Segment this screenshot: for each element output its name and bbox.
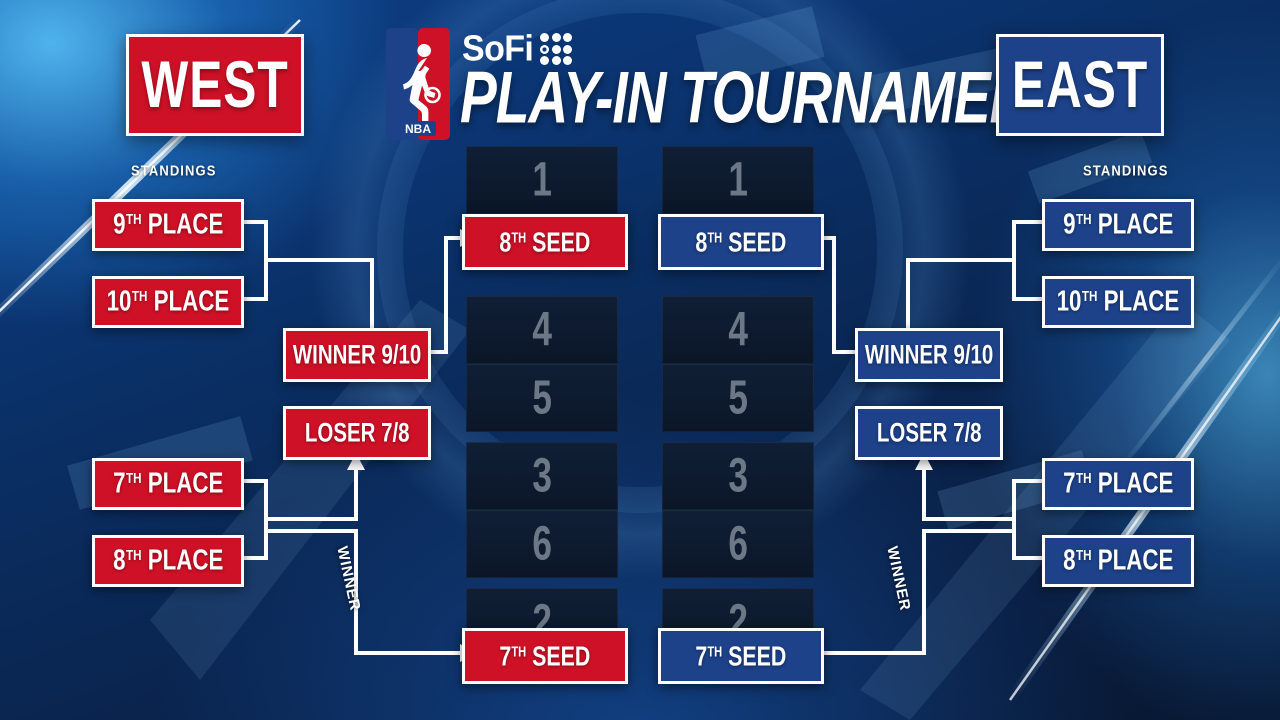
conference-label-east: EAST xyxy=(1012,52,1148,118)
east-7th-seed-label: 7TH SEED xyxy=(696,642,787,670)
play-in-bracket-graphic: NBA SoFi PLAY-IN TOURNAMENT WEST EAST ST… xyxy=(0,0,1280,720)
standings-label-east: STANDINGS xyxy=(1083,162,1169,179)
west-slot-seed-4: 4 xyxy=(466,296,618,364)
east-slot-seed-1: 1 xyxy=(662,146,814,214)
standings-label-west: STANDINGS xyxy=(131,162,217,179)
east-slot-seed-6: 6 xyxy=(662,510,814,578)
east-standing-8th-place[interactable]: 8TH PLACE xyxy=(1042,535,1194,587)
west-slot-seed-1: 1 xyxy=(466,146,618,214)
west-slot-seed-3: 3 xyxy=(466,442,618,510)
east-8th-seed-label: 8TH SEED xyxy=(696,228,787,256)
west-winner-9-10-label: WINNER 9/10 xyxy=(293,342,421,368)
east-winner-9-10-label: WINNER 9/10 xyxy=(865,342,993,368)
east-seed-ladder: 1 4 5 3 6 2 8TH SEED 7TH SEED xyxy=(662,146,814,676)
west-winner-9-10-box[interactable]: WINNER 9/10 xyxy=(283,328,431,382)
east-standing-10th-place-label: 10TH PLACE xyxy=(1057,288,1180,317)
east-loser-7-8-label: LOSER 7/8 xyxy=(877,420,982,446)
west-8th-seed-label: 8TH SEED xyxy=(500,228,591,256)
west-standing-8th-place-label: 8TH PLACE xyxy=(113,547,223,576)
west-8th-seed-box[interactable]: 8TH SEED xyxy=(462,214,628,270)
east-loser-7-8-box[interactable]: LOSER 7/8 xyxy=(855,406,1003,460)
east-7th-seed-box[interactable]: 7TH SEED xyxy=(658,628,824,684)
west-7th-seed-label: 7TH SEED xyxy=(500,642,591,670)
east-standing-7th-place[interactable]: 7TH PLACE xyxy=(1042,458,1194,510)
east-slot-seed-4: 4 xyxy=(662,296,814,364)
east-standing-9th-place-label: 9TH PLACE xyxy=(1063,211,1173,240)
east-winner-9-10-box[interactable]: WINNER 9/10 xyxy=(855,328,1003,382)
west-standing-7th-place-label: 7TH PLACE xyxy=(113,470,223,499)
west-standing-9th-place[interactable]: 9TH PLACE xyxy=(92,199,244,251)
svg-text:NBA: NBA xyxy=(405,122,431,136)
west-loser-7-8-label: LOSER 7/8 xyxy=(305,420,410,446)
east-standing-7th-place-label: 7TH PLACE xyxy=(1063,470,1173,499)
west-seed-ladder: 1 4 5 3 6 2 8TH SEED 7TH SEED xyxy=(466,146,618,676)
east-slot-seed-3: 3 xyxy=(662,442,814,510)
west-slot-seed-6: 6 xyxy=(466,510,618,578)
conference-label-west: WEST xyxy=(141,52,288,118)
conference-plate-east: EAST xyxy=(996,34,1164,136)
west-slot-seed-5: 5 xyxy=(466,364,618,432)
west-loser-7-8-box[interactable]: LOSER 7/8 xyxy=(283,406,431,460)
east-standing-9th-place[interactable]: 9TH PLACE xyxy=(1042,199,1194,251)
conference-plate-west: WEST xyxy=(126,34,304,136)
west-standing-9th-place-label: 9TH PLACE xyxy=(113,211,223,240)
west-standing-7th-place[interactable]: 7TH PLACE xyxy=(92,458,244,510)
title-block: NBA SoFi PLAY-IN TOURNAMENT xyxy=(386,24,896,140)
page-title: PLAY-IN TOURNAMENT xyxy=(460,62,1061,135)
west-standing-10th-place-label: 10TH PLACE xyxy=(107,288,230,317)
east-standing-10th-place[interactable]: 10TH PLACE xyxy=(1042,276,1194,328)
east-slot-seed-5: 5 xyxy=(662,364,814,432)
east-8th-seed-box[interactable]: 8TH SEED xyxy=(658,214,824,270)
west-winner-path-label: WINNER xyxy=(334,545,362,612)
nba-logo-icon: NBA xyxy=(386,28,450,140)
east-standing-8th-place-label: 8TH PLACE xyxy=(1063,547,1173,576)
west-standing-10th-place[interactable]: 10TH PLACE xyxy=(92,276,244,328)
west-7th-seed-box[interactable]: 7TH SEED xyxy=(462,628,628,684)
west-standing-8th-place[interactable]: 8TH PLACE xyxy=(92,535,244,587)
east-winner-path-label: WINNER xyxy=(884,545,912,612)
